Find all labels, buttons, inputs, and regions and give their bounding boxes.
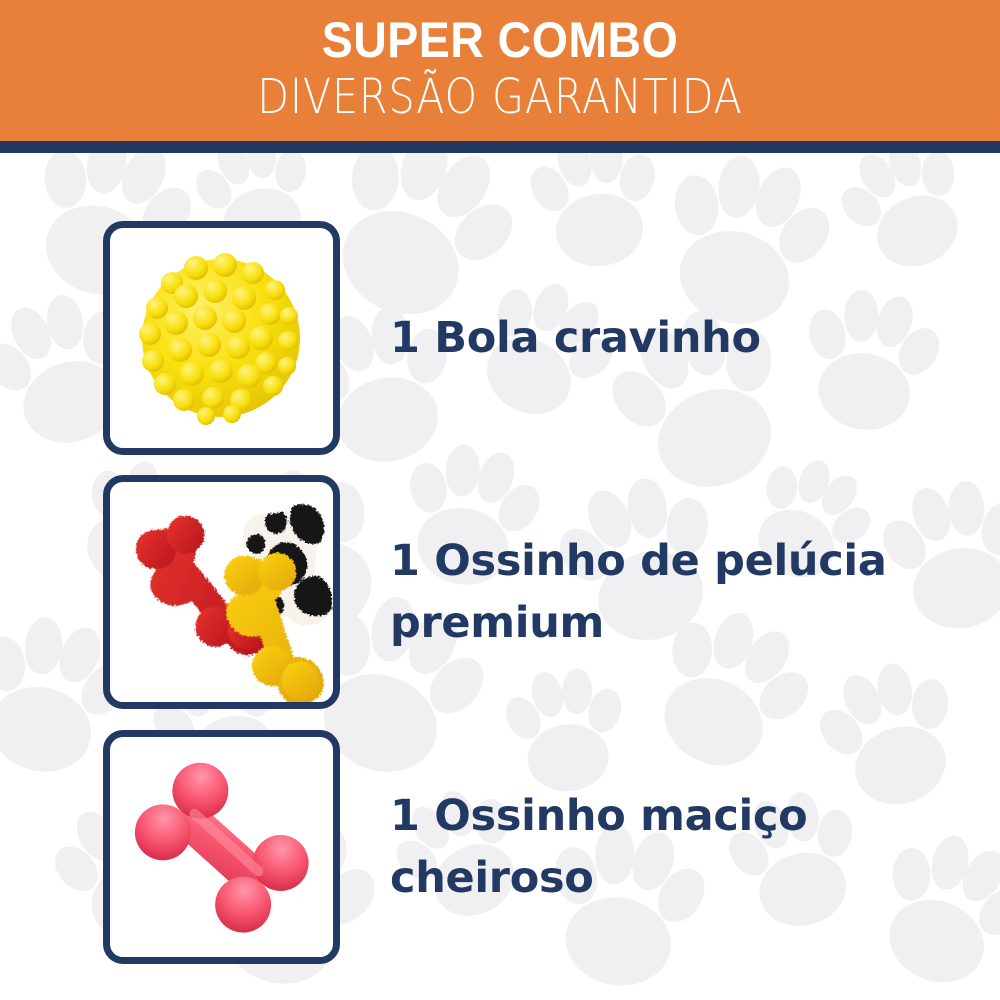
promo-poster: SUPER COMBO DIVERSÃO GARANTIDA — [0, 0, 1000, 1000]
rubber-bone-icon — [110, 737, 333, 957]
page-title: SUPER COMBO — [35, 12, 965, 68]
header-banner: SUPER COMBO DIVERSÃO GARANTIDA — [0, 0, 1000, 141]
product-image-card-plush-bones — [103, 475, 340, 709]
page-subtitle: DIVERSÃO GARANTIDA — [70, 68, 930, 126]
item-label: 1 Ossinho maciço cheiroso — [390, 785, 960, 909]
list-item: 1 Ossinho maciço cheiroso — [0, 730, 1000, 965]
header-divider — [0, 141, 1000, 153]
combo-items-list: 1 Bola cravinho — [0, 153, 1000, 1000]
product-image-card-rubber-bone — [103, 730, 340, 964]
spiky-ball-icon — [110, 228, 333, 448]
list-item: 1 Ossinho de pelúcia premium — [0, 475, 1000, 710]
list-item: 1 Bola cravinho — [0, 221, 1000, 456]
product-image-card-ball — [103, 221, 340, 455]
item-label: 1 Bola cravinho — [390, 307, 960, 369]
item-label: 1 Ossinho de pelúcia premium — [390, 530, 960, 654]
plush-bones-icon — [110, 482, 333, 702]
